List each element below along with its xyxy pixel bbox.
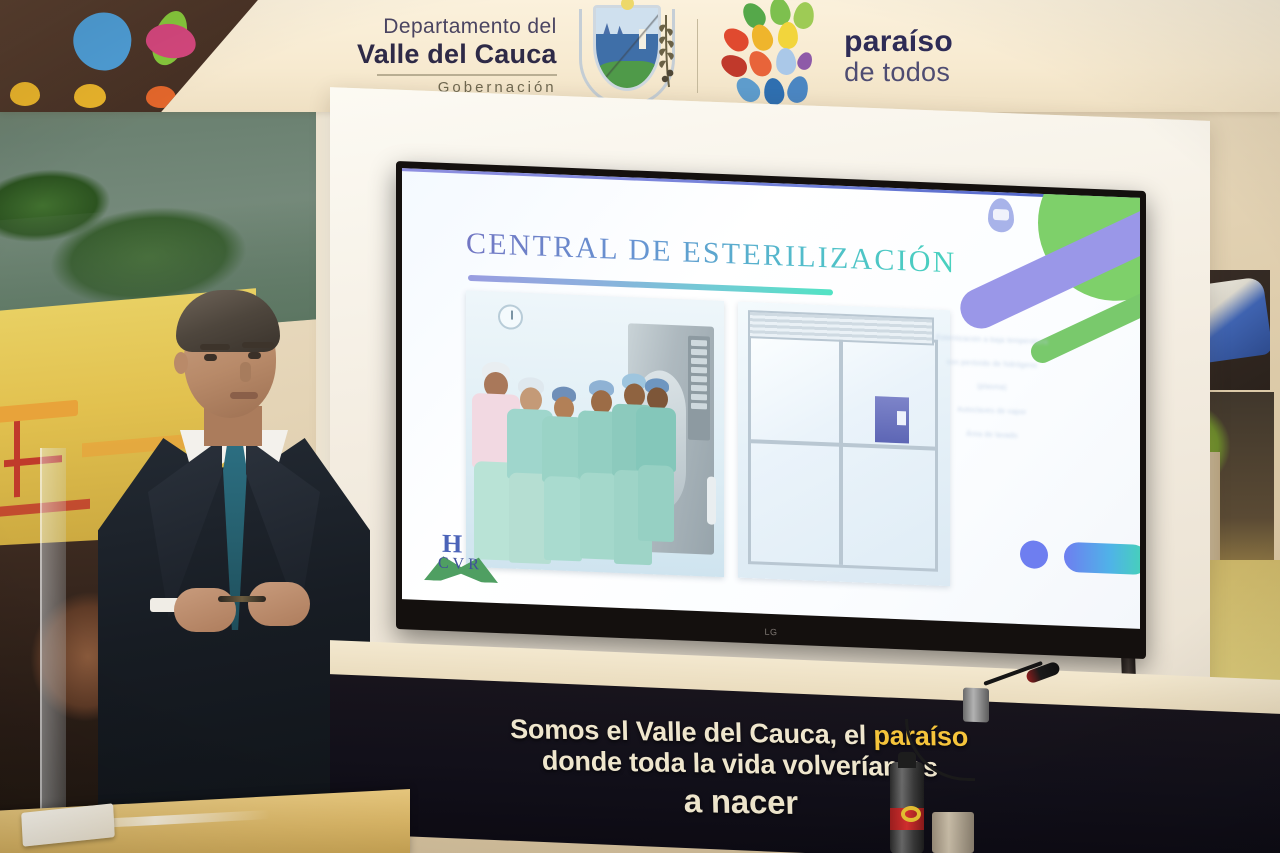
speaker-brow-right	[242, 342, 274, 348]
crane-cab	[0, 400, 78, 424]
slide-body-text: Esterilización a baja temperatura con pe…	[916, 331, 1068, 456]
department-lockup: Departamento del Valle del Cauca Goberna…	[357, 16, 557, 96]
institutional-header-banner: Departamento del Valle del Cauca Goberna…	[0, 0, 1280, 112]
header-divider	[697, 19, 699, 93]
logo-letters-cvr: CVR	[438, 555, 483, 575]
petal-yellow-1	[10, 82, 40, 106]
water-drop-icon	[988, 198, 1014, 233]
wall-clock-icon	[498, 304, 523, 330]
slide-body-line: Autoclaves de vapor	[916, 402, 1068, 423]
staff-member	[636, 378, 678, 546]
press-room-scene: Departamento del Valle del Cauca Goberna…	[0, 0, 1280, 853]
speaker-ear	[174, 352, 188, 374]
petal-blue	[62, 0, 143, 81]
drinking-cup[interactable]	[932, 812, 974, 853]
header-left-art	[0, 0, 300, 112]
paraiso-line1: paraíso	[844, 27, 953, 57]
hospital-logo: H CVR	[424, 528, 498, 583]
speaker-eye-left	[204, 354, 217, 361]
paraiso-line2: de todos	[844, 59, 953, 86]
department-name: Valle del Cauca	[357, 40, 557, 69]
speaker-hand-left	[174, 588, 236, 632]
autoclave-handle	[707, 476, 716, 524]
paraiso-drops-icon	[720, 4, 830, 108]
slide-title: CENTRAL DE ESTERILIZACIÓN	[466, 227, 957, 281]
speaker-brow-left	[200, 344, 230, 350]
glass-door-assembly	[748, 332, 938, 572]
glass-divider	[40, 448, 66, 848]
speaker-hand-right	[248, 582, 310, 626]
display-brand-logo: LG	[764, 627, 777, 638]
autoclave-control-panel	[688, 336, 710, 441]
decoration-gradient-pill	[1064, 542, 1140, 575]
department-label: Departamento del	[357, 16, 557, 39]
shield-divider	[593, 5, 661, 91]
speaker-eye-right	[248, 352, 261, 359]
speaker-mouth	[230, 392, 258, 399]
slide-photo-sterilization-team	[466, 291, 724, 577]
department-rule	[377, 74, 557, 76]
coat-of-arms-shield	[593, 5, 661, 91]
paraiso-wordmark: paraíso de todos	[844, 27, 953, 86]
slide-body-line: (plasma)	[916, 378, 1068, 399]
decoration-blue-dot	[1020, 540, 1048, 569]
petal-yellow-2	[74, 84, 106, 108]
microphone-base[interactable]	[963, 688, 989, 723]
speaker-nose	[240, 362, 251, 382]
presentation-display[interactable]: LG CENTRAL DE ESTERILIZACIÓN	[396, 161, 1146, 659]
paraiso-brand-lockup: paraíso de todos	[720, 4, 953, 108]
petal-orange	[146, 86, 176, 108]
slide-body-line: Esterilización a baja temperatura	[916, 331, 1068, 352]
slide-body-line: con peróxido de hidrógeno	[916, 355, 1068, 376]
thermos-cap[interactable]	[898, 752, 916, 768]
slide-canvas[interactable]: CENTRAL DE ESTERILIZACIÓN	[402, 168, 1140, 629]
laurel-branch-icon	[653, 13, 679, 89]
door-mullion-vertical	[839, 339, 843, 565]
slide-body-line: Área de lavado	[916, 426, 1068, 447]
coat-of-arms-icon	[579, 3, 675, 109]
yellow-ring-accessory	[901, 806, 921, 822]
presenter-remote[interactable]	[218, 596, 266, 602]
slogan-line1-plain: Somos el Valle del Cauca, el	[510, 714, 874, 750]
corridor-door-purple	[875, 396, 909, 443]
petal-art-panel	[0, 0, 270, 112]
